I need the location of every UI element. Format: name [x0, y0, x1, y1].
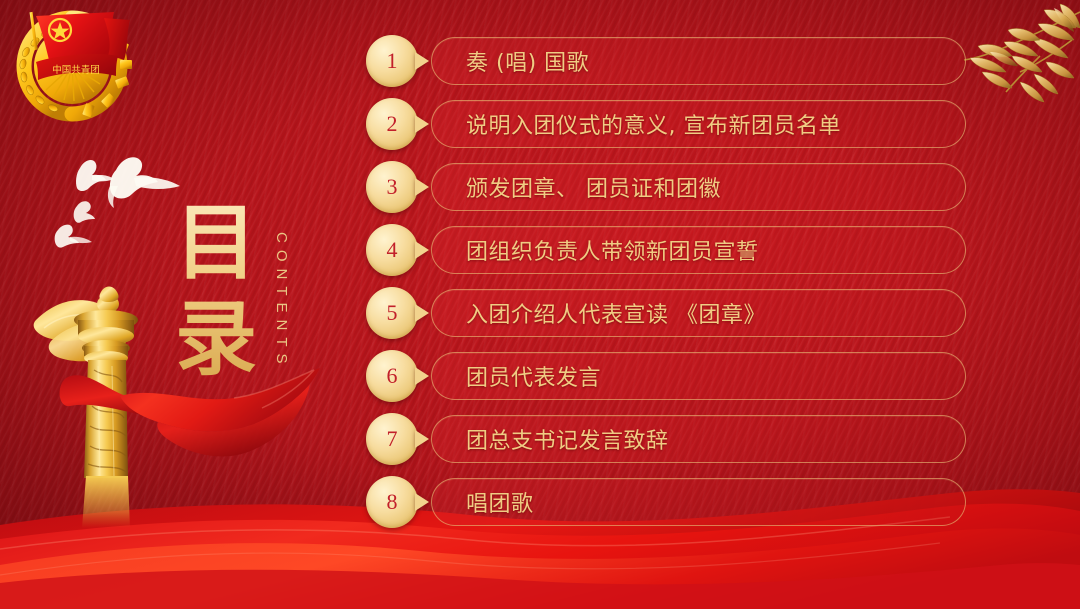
- item-pill[interactable]: 唱团歌: [431, 478, 966, 526]
- item-number-badge: 2: [366, 98, 418, 150]
- item-number-badge: 7: [366, 413, 418, 465]
- chevron-right-icon: [415, 304, 429, 322]
- emblem-banner-text: 中国共青团: [52, 64, 100, 76]
- item-label: 奏 (唱) 国歌: [466, 45, 589, 77]
- contents-item-7[interactable]: 7团总支书记发言致辞: [366, 412, 966, 466]
- chevron-right-icon: [415, 241, 429, 259]
- item-number-badge: 6: [366, 350, 418, 402]
- chevron-right-icon: [415, 52, 429, 70]
- item-number-badge: 3: [366, 161, 418, 213]
- contents-item-8[interactable]: 8唱团歌: [366, 475, 966, 529]
- chevron-right-icon: [415, 115, 429, 133]
- item-pill[interactable]: 团员代表发言: [431, 352, 966, 400]
- item-pill[interactable]: 团组织负责人带领新团员宣誓: [431, 226, 966, 274]
- chevron-right-icon: [415, 493, 429, 511]
- item-label: 说明入团仪式的意义, 宣布新团员名单: [466, 108, 841, 140]
- item-number-badge: 8: [366, 476, 418, 528]
- contents-item-6[interactable]: 6团员代表发言: [366, 349, 966, 403]
- item-pill[interactable]: 入团介绍人代表宣读 《团章》: [431, 289, 966, 337]
- contents-item-3[interactable]: 3颁发团章、 团员证和团徽: [366, 160, 966, 214]
- communist-youth-league-emblem: 中国共青团: [6, 2, 138, 124]
- item-label: 颁发团章、 团员证和团徽: [466, 171, 721, 203]
- page-title: 目 录 CONTENTS: [175, 196, 305, 426]
- item-pill[interactable]: 团总支书记发言致辞: [431, 415, 966, 463]
- item-label: 团员代表发言: [466, 360, 601, 392]
- item-number-badge: 1: [366, 35, 418, 87]
- item-number-badge: 4: [366, 224, 418, 276]
- chevron-right-icon: [415, 367, 429, 385]
- title-chinese: 目 录: [175, 196, 271, 388]
- item-pill[interactable]: 奏 (唱) 国歌: [431, 37, 966, 85]
- contents-item-4[interactable]: 4团组织负责人带领新团员宣誓: [366, 223, 966, 277]
- item-number-badge: 5: [366, 287, 418, 339]
- item-pill[interactable]: 颁发团章、 团员证和团徽: [431, 163, 966, 211]
- contents-item-2[interactable]: 2说明入团仪式的意义, 宣布新团员名单: [366, 97, 966, 151]
- title-english: CONTENTS: [273, 232, 290, 371]
- item-label: 唱团歌: [466, 486, 534, 518]
- chevron-right-icon: [415, 178, 429, 196]
- contents-list: 1奏 (唱) 国歌2说明入团仪式的意义, 宣布新团员名单3颁发团章、 团员证和团…: [366, 28, 966, 528]
- slide-canvas: 中国共青团: [0, 0, 1080, 609]
- contents-item-5[interactable]: 5入团介绍人代表宣读 《团章》: [366, 286, 966, 340]
- item-label: 入团介绍人代表宣读 《团章》: [466, 297, 766, 329]
- contents-item-1[interactable]: 1奏 (唱) 国歌: [366, 34, 966, 88]
- chevron-right-icon: [415, 430, 429, 448]
- title-char-1: 目: [175, 196, 271, 292]
- item-label: 团组织负责人带领新团员宣誓: [466, 234, 759, 266]
- title-char-2: 录: [175, 292, 271, 388]
- item-pill[interactable]: 说明入团仪式的意义, 宣布新团员名单: [431, 100, 966, 148]
- item-label: 团总支书记发言致辞: [466, 423, 669, 455]
